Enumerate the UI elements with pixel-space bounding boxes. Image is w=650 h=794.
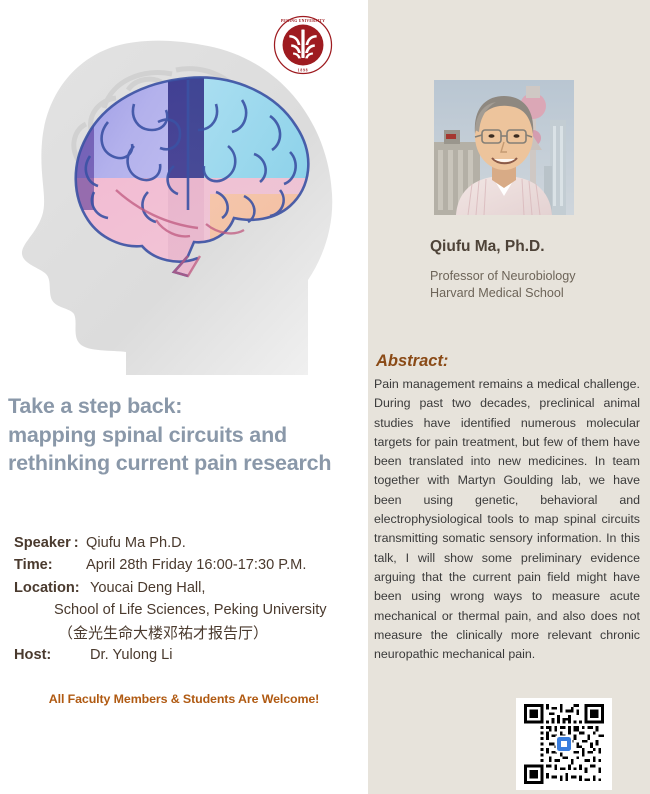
speaker-name: Qiufu Ma, Ph.D. — [430, 238, 545, 256]
title-line-2: mapping spinal circuits and — [8, 421, 358, 450]
speaker-row: Speaker :Qiufu Ma Ph.D. — [14, 532, 366, 554]
location-value: Youcai Deng Hall, — [90, 580, 205, 596]
right-panel: Qiufu Ma, Ph.D. Professor of Neurobiolog… — [368, 0, 650, 794]
brain-illustration — [38, 60, 338, 310]
host-value: Dr. Yulong Li — [90, 647, 173, 663]
speaker-affiliation: Professor of Neurobiology Harvard Medica… — [430, 268, 576, 302]
svg-text:1898: 1898 — [298, 69, 309, 73]
location-line-3-chinese: （金光生命大楼邓祐才报告厅） — [14, 622, 366, 644]
affiliation-line-2: Harvard Medical School — [430, 285, 576, 302]
location-row: Location:Youcai Deng Hall, — [14, 577, 366, 599]
abstract-body: Pain management remains a medical challe… — [374, 375, 640, 664]
speaker-value: Qiufu Ma Ph.D. — [86, 535, 186, 551]
title-line-3: rethinking current pain research — [8, 449, 358, 478]
event-details: Speaker :Qiufu Ma Ph.D. Time:April 28th … — [14, 532, 366, 666]
title-line-1: Take a step back: — [8, 392, 358, 421]
affiliation-line-1: Professor of Neurobiology — [430, 268, 576, 285]
seminar-poster: PEKING UNIVERSITY 1898 Take a step back:… — [0, 0, 650, 794]
location-label: Location: — [14, 577, 90, 599]
peking-university-logo-icon: PEKING UNIVERSITY 1898 — [272, 14, 334, 76]
host-row: Host:Dr. Yulong Li — [14, 644, 366, 666]
time-value: April 28th Friday 16:00-17:30 P.M. — [86, 557, 306, 573]
wechat-qr-code-icon[interactable] — [524, 704, 604, 784]
welcome-message: All Faculty Members & Students Are Welco… — [0, 692, 368, 706]
svg-text:PEKING UNIVERSITY: PEKING UNIVERSITY — [281, 19, 325, 23]
qr-code-container — [516, 698, 612, 790]
host-label: Host: — [14, 644, 90, 666]
page-title: Take a step back: mapping spinal circuit… — [8, 392, 358, 478]
time-label: Time: — [14, 554, 86, 576]
time-row: Time:April 28th Friday 16:00-17:30 P.M. — [14, 554, 366, 576]
speaker-label: Speaker : — [14, 532, 86, 554]
location-line-2: School of Life Sciences, Peking Universi… — [14, 599, 366, 621]
left-panel: PEKING UNIVERSITY 1898 Take a step back:… — [0, 0, 368, 794]
speaker-photo — [434, 80, 574, 215]
abstract-heading: Abstract: — [376, 352, 448, 371]
